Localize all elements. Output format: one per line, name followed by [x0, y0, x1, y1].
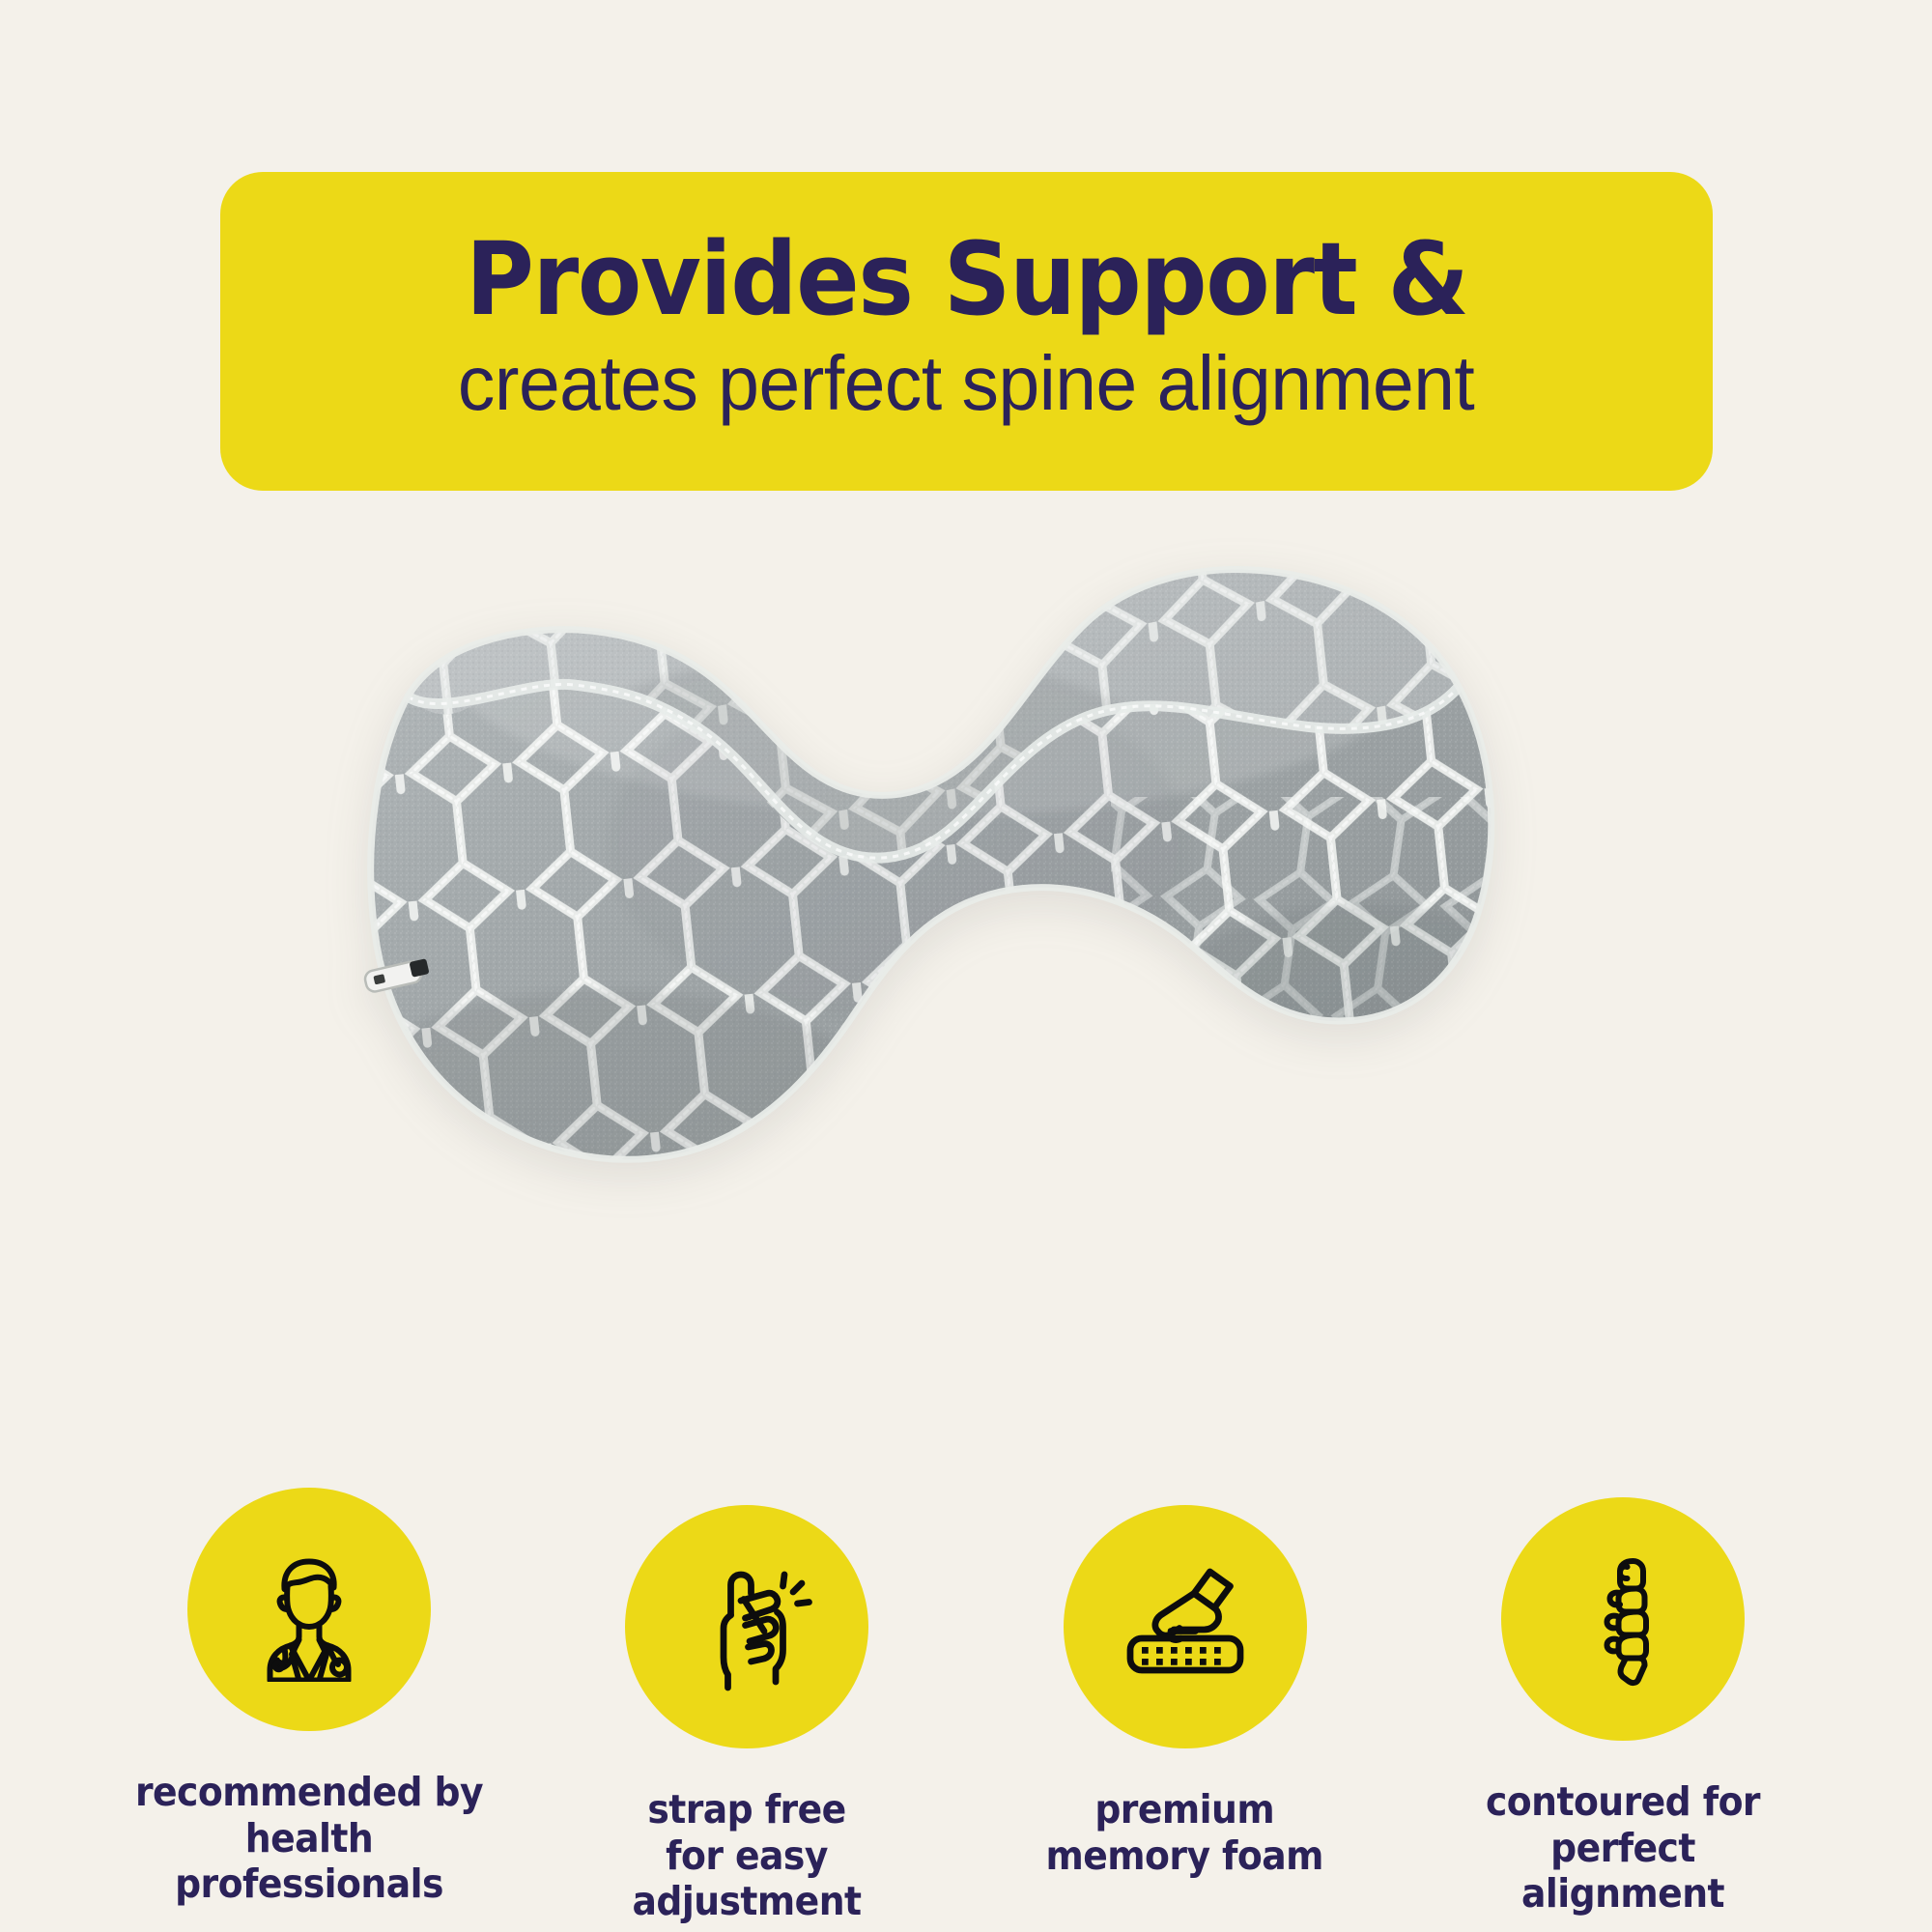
feature-icon-badge-3	[1064, 1505, 1307, 1748]
feature-label-1: recommended by health professionals	[131, 1770, 487, 1908]
hand-pressing-mattress-icon	[1113, 1554, 1258, 1699]
banner-title: Provides Support &	[466, 228, 1468, 330]
feature-icon-badge-1	[187, 1488, 431, 1731]
doctor-icon	[237, 1537, 382, 1682]
feature-row: recommended by health professionals	[116, 1488, 1816, 1925]
knee-pillow-photo	[319, 526, 1565, 1241]
feature-icon-badge-4	[1501, 1497, 1745, 1741]
feature-strap-free-for-easy-adjustment: strap free for easy adjustment	[554, 1488, 940, 1925]
snapping-fingers-icon	[674, 1554, 819, 1699]
headline-banner: Provides Support & creates perfect spine…	[220, 172, 1713, 491]
spine-icon	[1550, 1547, 1695, 1691]
banner-subtitle: creates perfect spine alignment	[458, 342, 1474, 425]
feature-recommended-by-health-professionals: recommended by health professionals	[116, 1488, 502, 1908]
product-image-stage	[319, 526, 1565, 1241]
feature-icon-badge-2	[625, 1505, 868, 1748]
product-marketing-image: { "theme": { "background": "#f4f1ea", "a…	[0, 0, 1932, 1932]
feature-contoured-for-perfect-alignment: contoured for perfect alignment	[1430, 1488, 1816, 1918]
feature-premium-memory-foam: premium memory foam	[992, 1488, 1378, 1879]
feature-label-4: contoured for perfect alignment	[1445, 1779, 1801, 1918]
feature-label-3: premium memory foam	[1046, 1787, 1323, 1879]
feature-label-2: strap free for easy adjustment	[569, 1787, 924, 1925]
